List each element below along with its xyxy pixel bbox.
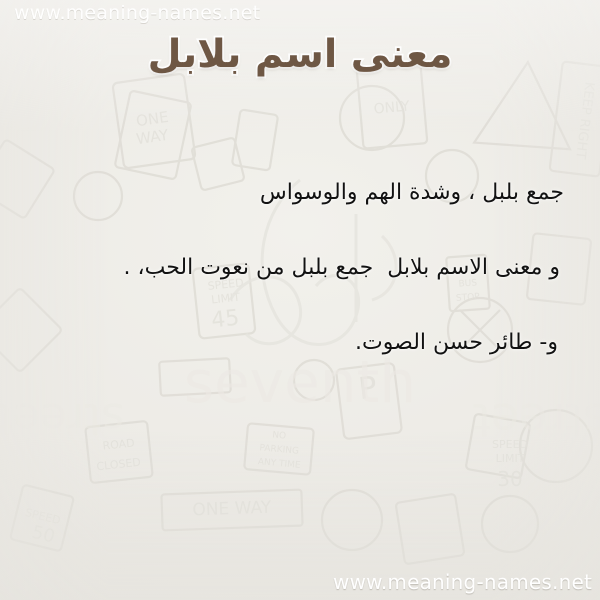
svg-text:CLOSED: CLOSED [96,456,142,474]
svg-text:PARKING: PARKING [259,443,299,456]
meaning-line-3: و- طائر حسن الصوت. [30,328,564,358]
meaning-text-block: جمع بلبل ، وشدة الهم والوسواس و معنى الا… [0,178,600,358]
svg-text:ROAD: ROAD [102,436,135,452]
svg-text:SPEED: SPEED [24,506,62,527]
svg-text:street: street [473,393,600,447]
watermark-bottom-right: www.meaning-names.net [333,570,592,594]
svg-text:SPEED: SPEED [492,438,528,451]
svg-text:ONE: ONE [135,108,170,130]
svg-text:street: street [0,393,124,444]
svg-text:P: P [357,370,379,407]
svg-text:50: 50 [30,522,57,548]
svg-text:LIMIT: LIMIT [496,452,525,465]
svg-text:ONLY: ONLY [373,98,411,117]
svg-text:KEEP RIGHT: KEEP RIGHT [572,81,596,160]
svg-text:WAY: WAY [135,126,170,148]
meaning-line-2: و معنى الاسم بلابل جمع بلبل من نعوت الحب… [30,253,564,283]
name-meaning-card: ONE WAY SPEED LIMIT 45 P SPEED 50 SPEED … [0,0,600,600]
watermark-top-left: www.meaning-names.net [14,2,260,24]
svg-text:30: 30 [497,467,522,491]
svg-text:ANY TIME: ANY TIME [257,457,301,471]
svg-text:NO: NO [272,430,287,441]
page-title: معنى اسم بلابل [0,29,600,81]
meaning-line-1: جمع بلبل ، وشدة الهم والوسواس [30,178,564,208]
svg-text:ONE WAY: ONE WAY [192,498,272,521]
svg-text:seventh: seventh [184,348,416,416]
